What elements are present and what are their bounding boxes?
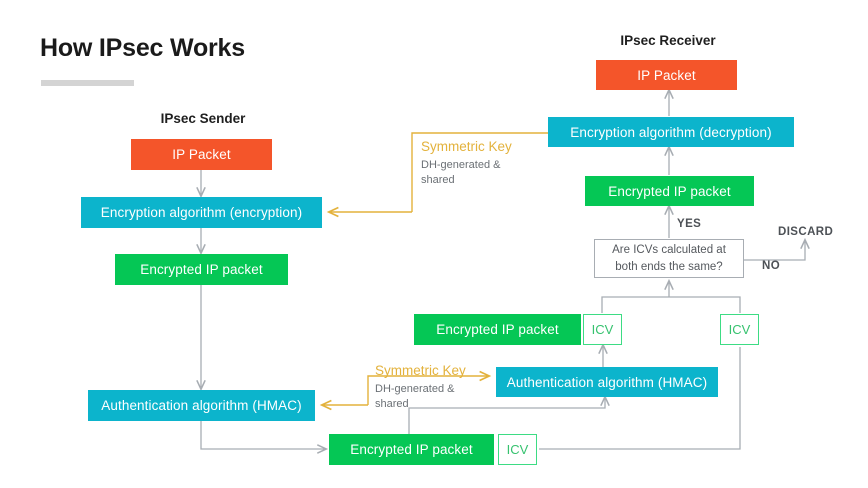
receiver-ip-packet-box[interactable]: IP Packet [596, 60, 737, 90]
symmetric-key-bottom-label: Symmetric Key [375, 363, 466, 378]
sender-ip-packet-box[interactable]: IP Packet [131, 139, 272, 170]
symmetric-key-top-label: Symmetric Key [421, 139, 512, 154]
page-title: How IPsec Works [40, 34, 245, 63]
discard-label: DISCARD [778, 226, 833, 238]
sender-section-title: IPsec Sender [103, 111, 303, 126]
title-underline [41, 80, 134, 86]
receiver-hmac-box[interactable]: Authentication algorithm (HMAC) [496, 367, 718, 397]
sender-output-packet-box[interactable]: Encrypted IP packet [329, 434, 494, 465]
receiver-computed-icv-box[interactable]: ICV [720, 314, 759, 345]
diagram-canvas: How IPsec Works IPsec Sender IPsec Recei… [0, 0, 868, 488]
sender-hmac-box[interactable]: Authentication algorithm (HMAC) [88, 390, 315, 421]
symmetric-key-bottom-sublabel: DH-generated & shared [375, 382, 455, 412]
receiver-encrypted-packet-box[interactable]: Encrypted IP packet [585, 176, 754, 206]
yes-branch-label: YES [677, 218, 701, 230]
receiver-decryption-box[interactable]: Encryption algorithm (decryption) [548, 117, 794, 147]
no-branch-label: NO [762, 260, 780, 272]
receiver-input-packet-box[interactable]: Encrypted IP packet [414, 314, 581, 345]
receiver-section-title: IPsec Receiver [568, 33, 768, 48]
sender-encrypted-packet-box[interactable]: Encrypted IP packet [115, 254, 288, 285]
symmetric-key-top-sublabel: DH-generated & shared [421, 158, 501, 188]
sender-encryption-box[interactable]: Encryption algorithm (encryption) [81, 197, 322, 228]
icv-comparison-decision-box[interactable]: Are ICVs calculated at both ends the sam… [594, 239, 744, 278]
receiver-input-icv-box[interactable]: ICV [583, 314, 622, 345]
sender-output-icv-box[interactable]: ICV [498, 434, 537, 465]
